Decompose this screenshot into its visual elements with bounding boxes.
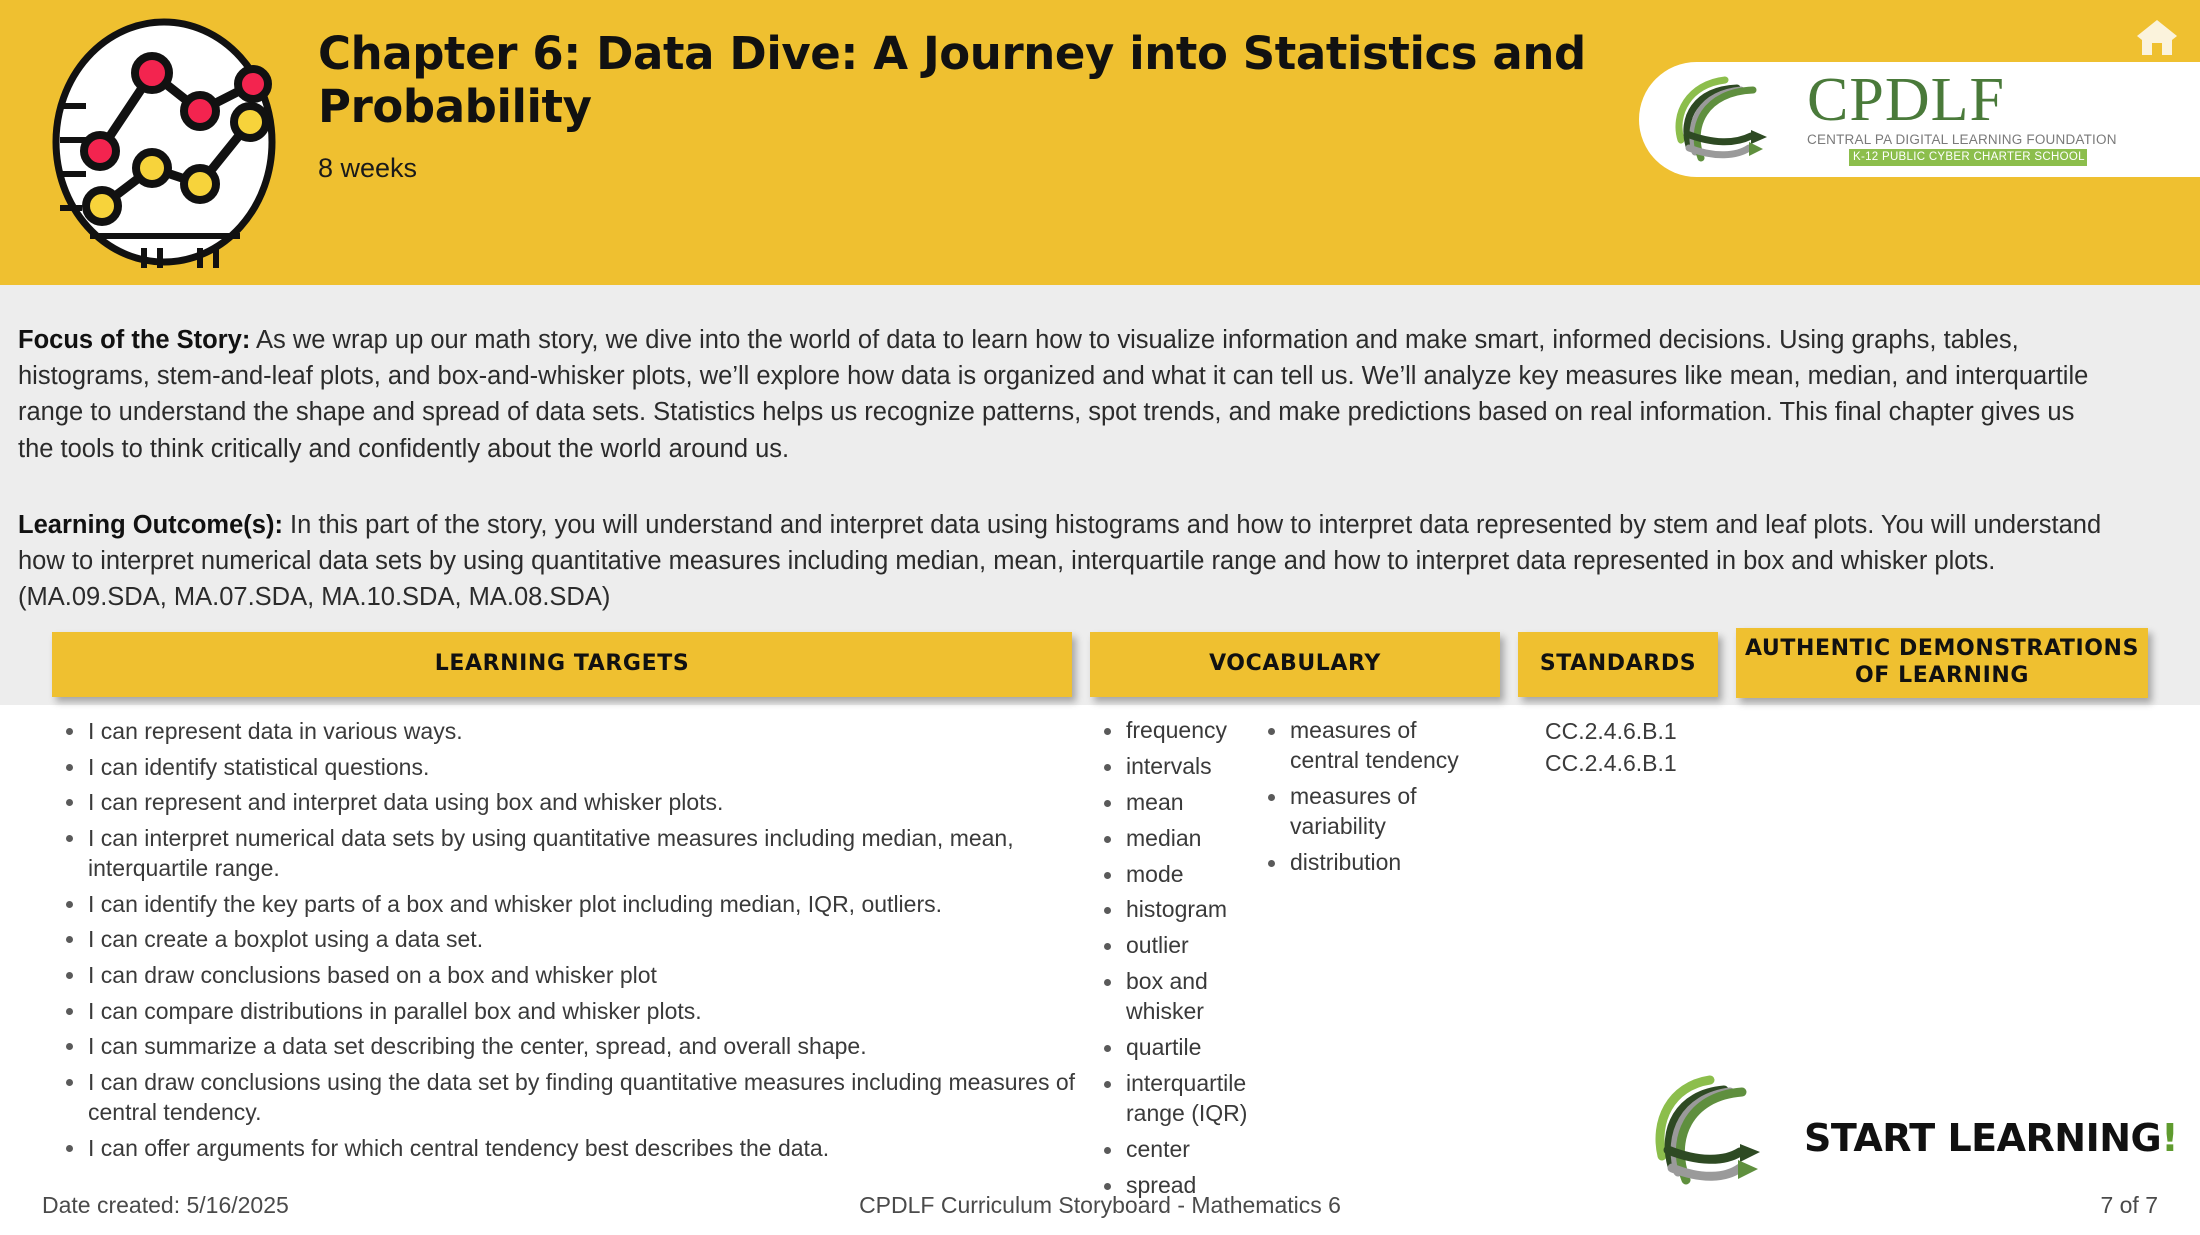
banner-learning-targets: LEARNING TARGETS: [52, 632, 1072, 697]
learning-target-item: I can draw conclusions based on a box an…: [60, 960, 1090, 991]
vocabulary-item: measures of variability: [1262, 782, 1462, 842]
learning-targets-column: I can represent data in various ways.I c…: [60, 716, 1090, 1169]
title-block: Chapter 6: Data Dive: A Journey into Sta…: [318, 28, 1608, 184]
learning-target-item: I can identify statistical questions.: [60, 752, 1090, 783]
learning-target-item: I can represent data in various ways.: [60, 716, 1090, 747]
standard-item: CC.2.4.6.B.1: [1545, 716, 1775, 748]
vocabulary-item: distribution: [1262, 848, 1462, 878]
page-title: Chapter 6: Data Dive: A Journey into Sta…: [318, 28, 1608, 133]
learning-outcomes: Learning Outcome(s): In this part of the…: [18, 507, 2103, 616]
start-learning-label: START LEARNING!: [1804, 1116, 2178, 1160]
learning-target-item: I can offer arguments for which central …: [60, 1133, 1090, 1164]
vocabulary-list-2: measures of central tendencymeasures of …: [1262, 716, 1462, 877]
focus-label: Focus of the Story:: [18, 326, 250, 354]
vocabulary-list-1: frequencyintervalsmeanmedianmodehistogra…: [1098, 716, 1276, 1200]
learning-target-item: I can create a boxplot using a data set.: [60, 924, 1090, 955]
standard-item: CC.2.4.6.B.1: [1545, 748, 1775, 780]
outcome-text: In this part of the story, you will unde…: [18, 511, 2101, 611]
vocabulary-item: box and whisker: [1098, 967, 1276, 1027]
banner-vocabulary: VOCABULARY: [1090, 632, 1500, 697]
vocabulary-item: mean: [1098, 788, 1276, 818]
banner-standards: STANDARDS: [1518, 632, 1718, 697]
focus-text: As we wrap up our math story, we dive in…: [18, 326, 2088, 463]
vocabulary-item: interquartile range (IQR): [1098, 1069, 1276, 1129]
footer-title: CPDLF Curriculum Storyboard - Mathematic…: [0, 1192, 2200, 1219]
logo-wordmark: CPDLF CENTRAL PA DIGITAL LEARNING FOUNDA…: [1807, 70, 2137, 166]
vocabulary-column-2: measures of central tendencymeasures of …: [1262, 716, 1462, 883]
swoosh-icon: [1648, 1072, 1798, 1200]
learning-target-item: I can summarize a data set describing th…: [60, 1031, 1090, 1062]
cpdlf-logo: CPDLF CENTRAL PA DIGITAL LEARNING FOUNDA…: [1639, 62, 2200, 177]
vocabulary-item: intervals: [1098, 752, 1276, 782]
learning-target-item: I can identify the key parts of a box an…: [60, 889, 1090, 920]
learning-targets-list: I can represent data in various ways.I c…: [60, 716, 1090, 1164]
start-learning-bang: !: [2161, 1116, 2178, 1160]
outcome-label: Learning Outcome(s):: [18, 511, 283, 539]
standards-column: CC.2.4.6.B.1CC.2.4.6.B.1: [1545, 716, 1775, 779]
chapter-duration: 8 weeks: [318, 153, 1608, 184]
learning-target-item: I can draw conclusions using the data se…: [60, 1067, 1090, 1128]
start-learning-graphic[interactable]: START LEARNING!: [1648, 1072, 2088, 1202]
banner-authentic-demonstrations-of-learning: AUTHENTIC DEMONSTRATIONS OF LEARNING: [1736, 628, 2148, 698]
vocabulary-item: mode: [1098, 860, 1276, 890]
page-header: Chapter 6: Data Dive: A Journey into Sta…: [0, 0, 2200, 285]
vocabulary-item: median: [1098, 824, 1276, 854]
learning-target-item: I can represent and interpret data using…: [60, 787, 1090, 818]
vocabulary-item: frequency: [1098, 716, 1276, 746]
start-learning-text: START LEARNING: [1804, 1116, 2161, 1160]
home-icon[interactable]: [2134, 16, 2180, 58]
swoosh-icon: [1667, 70, 1807, 170]
footer-page-number: 7 of 7: [2100, 1192, 2158, 1219]
vocabulary-column-1: frequencyintervalsmeanmedianmodehistogra…: [1098, 716, 1276, 1206]
logo-tagline: CENTRAL PA DIGITAL LEARNING FOUNDATION: [1807, 132, 2137, 147]
vocabulary-item: histogram: [1098, 895, 1276, 925]
focus-of-the-story: Focus of the Story: As we wrap up our ma…: [18, 322, 2103, 467]
vocabulary-item: center: [1098, 1135, 1276, 1165]
storyboard-page: Chapter 6: Data Dive: A Journey into Sta…: [0, 0, 2200, 1235]
line-chart-icon: [48, 16, 280, 268]
learning-target-item: I can interpret numerical data sets by u…: [60, 823, 1090, 884]
vocabulary-item: quartile: [1098, 1033, 1276, 1063]
vocabulary-item: measures of central tendency: [1262, 716, 1462, 776]
vocabulary-item: outlier: [1098, 931, 1276, 961]
logo-name: CPDLF: [1807, 70, 2137, 131]
learning-target-item: I can compare distributions in parallel …: [60, 996, 1090, 1027]
logo-badge: K-12 PUBLIC CYBER CHARTER SCHOOL: [1849, 149, 2087, 166]
